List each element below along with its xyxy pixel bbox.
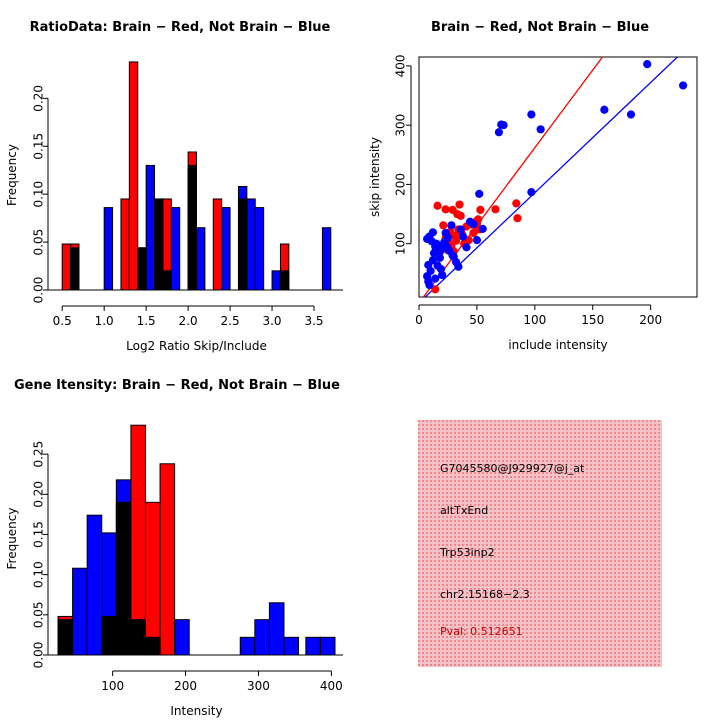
x-tick-label: 200 [174, 679, 197, 693]
histogram-bar [73, 568, 88, 655]
ratio-histogram-panel: RatioData: Brain − Red, Not Brain − Blue… [0, 0, 360, 360]
x-axis-label: Intensity [170, 704, 222, 718]
intensity-scatter-title: Brain − Red, Not Brain − Blue [360, 20, 720, 35]
histogram-bar [146, 165, 154, 290]
scatter-point [455, 200, 463, 208]
histogram-bar [306, 637, 321, 655]
scatter-point [431, 275, 439, 283]
x-tick-label: 3.5 [304, 314, 323, 328]
histogram-bar [320, 637, 335, 655]
pval-label: Pval: 0.512651 [440, 625, 523, 638]
histogram-bar [87, 515, 102, 655]
histogram-bar [222, 208, 230, 290]
gene-symbol-label: Trp53inp2 [440, 546, 495, 559]
histogram-bar [247, 199, 255, 290]
scatter-point [444, 234, 452, 242]
x-axis-label: Log2 Ratio Skip/Include [126, 339, 267, 353]
x-tick-label: 2.5 [221, 314, 240, 328]
histogram-bar [255, 208, 263, 290]
probe-id-label: G7045580@J929927@j_at [440, 462, 584, 475]
histogram-bar [269, 603, 284, 655]
hist-series-not-brain [58, 480, 335, 655]
regression-line [419, 38, 697, 303]
histogram-bar [284, 637, 299, 655]
histogram-bar [272, 271, 280, 290]
ratio-histogram-title: RatioData: Brain − Red, Not Brain − Blue [0, 20, 360, 35]
y-tick-label: 0.00 [32, 277, 46, 304]
scatter-point [425, 281, 433, 289]
scatter-point [433, 261, 441, 269]
histogram-bar [131, 425, 146, 655]
scatter-point [439, 221, 447, 229]
y-tick-label: 0.05 [32, 601, 46, 628]
y-tick-label: 0.25 [32, 441, 46, 468]
scatter-point [462, 243, 470, 251]
scatter-point [447, 221, 455, 229]
plot-area: 100200300400050100150200include intensit… [368, 0, 697, 352]
scatter-point [438, 271, 446, 279]
scatter-point [459, 232, 467, 240]
scatter-point [454, 263, 462, 271]
scatter-point [512, 199, 520, 207]
scatter-point [457, 212, 465, 220]
scatter-point [452, 237, 460, 245]
histogram-bar [197, 228, 205, 290]
histogram-bar [116, 502, 131, 655]
y-tick-label: 0.00 [32, 642, 46, 669]
x-tick-label: 100 [101, 679, 124, 693]
scatter-point [438, 244, 446, 252]
scatter-point [429, 228, 437, 236]
scatter-point [442, 205, 450, 213]
figure-canvas: RatioData: Brain − Red, Not Brain − Blue… [0, 0, 720, 720]
y-tick-label: 300 [394, 114, 408, 137]
x-tick-label: 50 [469, 313, 484, 327]
x-tick-label: 300 [247, 679, 270, 693]
scatter-point [469, 220, 477, 228]
scatter-point [457, 225, 465, 233]
x-tick-label: 150 [581, 313, 604, 327]
x-tick-label: 400 [320, 679, 343, 693]
scatter-point [479, 225, 487, 233]
histogram-bar [238, 199, 246, 290]
plot-box [419, 57, 697, 297]
gene-intensity-plot: 0.000.050.100.150.200.25100200300400Inte… [0, 360, 360, 720]
y-tick-label: 0.10 [32, 561, 46, 588]
regression-line [419, 0, 697, 303]
y-tick-label: 200 [394, 173, 408, 196]
ratio-histogram-plot: 0.000.050.100.150.200.51.01.52.02.53.03.… [0, 0, 360, 360]
scatter-point [476, 206, 484, 214]
scatter-point [426, 267, 434, 275]
y-tick-label: 0.15 [32, 521, 46, 548]
histogram-bar [280, 244, 288, 290]
histogram-bar [188, 152, 196, 290]
plot-area: 0.000.050.100.150.200.25100200300400Inte… [5, 425, 343, 718]
x-tick-label: 0 [415, 313, 423, 327]
histogram-bar [58, 616, 73, 655]
y-axis-label: Frequency [5, 144, 19, 206]
y-axis-label: skip intensity [368, 137, 382, 217]
histogram-bar [104, 208, 112, 290]
probe-info-panel: G7045580@J929927@j_at altTxEnd Trp53inp2… [360, 360, 720, 720]
scatter-point [448, 251, 456, 259]
scatter-point [527, 188, 535, 196]
histogram-bar [145, 502, 160, 655]
y-tick-label: 0.20 [32, 85, 46, 112]
x-tick-label: 3.0 [262, 314, 281, 328]
histogram-bar [71, 244, 79, 290]
data-layer [419, 0, 697, 303]
scatter-point [491, 205, 499, 213]
histogram-bar [129, 62, 137, 290]
intensity-scatter-panel: Brain − Red, Not Brain − Blue 1002003004… [360, 0, 720, 360]
y-tick-label: 0.20 [32, 481, 46, 508]
x-tick-label: 2.0 [179, 314, 198, 328]
histogram-bar [163, 199, 171, 290]
histogram-bar [171, 208, 179, 290]
histogram-bar [138, 248, 146, 290]
x-tick-label: 0.5 [53, 314, 72, 328]
locus-label: chr2.15168−2.3 [440, 588, 530, 601]
y-tick-label: 0.05 [32, 229, 46, 256]
gene-intensity-title: Gene Itensity: Brain − Red, Not Brain − … [14, 378, 340, 393]
scatter-point [643, 60, 651, 68]
histogram-bar [175, 620, 190, 655]
x-tick-label: 100 [523, 313, 546, 327]
scatter-point [513, 214, 521, 222]
probe-info-box: G7045580@J929927@j_at altTxEnd Trp53inp2… [418, 420, 662, 667]
intensity-scatter-plot: 100200300400050100150200include intensit… [360, 0, 720, 360]
scatter-point [527, 110, 535, 118]
scatter-point [495, 128, 503, 136]
histogram-bar [322, 228, 330, 290]
scatter-point [499, 121, 507, 129]
scatter-point [600, 106, 608, 114]
event-type-label: altTxEnd [440, 504, 488, 517]
histogram-bar [102, 616, 117, 655]
hist-series-not-brain [71, 165, 331, 290]
histogram-bar [160, 464, 175, 655]
plot-area: 0.000.050.100.150.200.51.01.52.02.53.03.… [5, 62, 343, 353]
y-tick-label: 100 [394, 232, 408, 255]
x-tick-label: 1.0 [95, 314, 114, 328]
y-axis-label: Frequency [5, 508, 19, 570]
scatter-point [537, 125, 545, 133]
histogram-bar [213, 199, 221, 290]
scatter-point [627, 110, 635, 118]
x-tick-label: 1.5 [137, 314, 156, 328]
histogram-bar [121, 199, 129, 290]
y-tick-label: 400 [394, 54, 408, 77]
scatter-point [433, 202, 441, 210]
histogram-bar [240, 637, 255, 655]
gene-intensity-panel: Gene Itensity: Brain − Red, Not Brain − … [0, 360, 360, 720]
scatter-point [469, 229, 477, 237]
scatter-series-not-brain [423, 60, 687, 289]
scatter-point [473, 236, 481, 244]
x-axis-label: include intensity [508, 338, 607, 352]
x-tick-label: 200 [639, 313, 662, 327]
y-tick-label: 0.15 [32, 133, 46, 160]
y-tick-label: 0.10 [32, 181, 46, 208]
histogram-bar [62, 244, 70, 290]
histogram-bar [155, 199, 163, 290]
scatter-point [679, 81, 687, 89]
scatter-point [475, 190, 483, 198]
histogram-bar [255, 620, 270, 655]
